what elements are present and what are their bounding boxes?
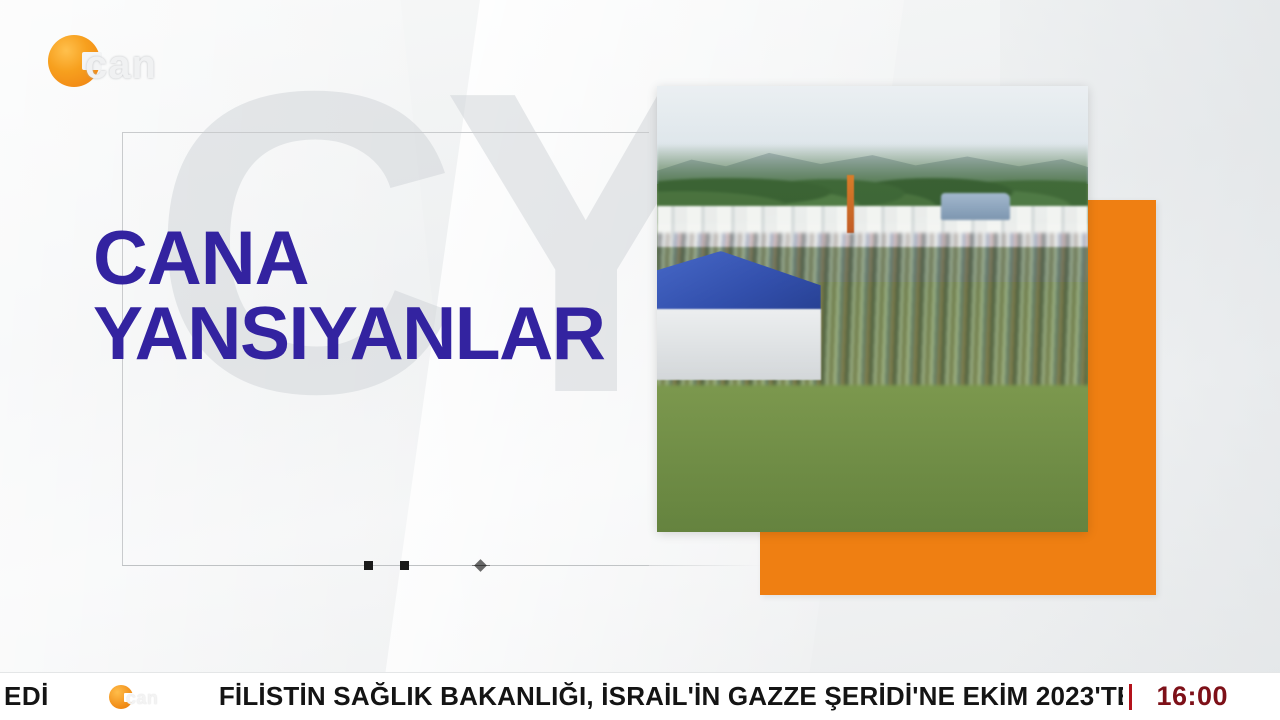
program-title-line-1: CANA [93, 222, 673, 296]
channel-logo: can [48, 33, 198, 91]
broadcast-stage: CY can CANA YANSIYANLAR EDİ can [0, 0, 1280, 720]
timeline-baseline [122, 565, 762, 566]
news-ticker-bar: EDİ can FİLİSTİN SAĞLIK BAKANLIĞI, İSRAİ… [0, 672, 1280, 720]
ticker-clock: 16:00 [1156, 681, 1280, 712]
ticker-channel-logo-text: can [126, 688, 159, 709]
ticker-left-group: EDİ can [0, 673, 193, 720]
timeline-marker-square-1 [364, 561, 373, 570]
program-title-line-2: YANSIYANLAR [93, 296, 673, 370]
ticker-previous-headline-fragment: EDİ [0, 681, 49, 712]
festival-crowd-photo [657, 86, 1088, 532]
ticker-headline-text: FİLİSTİN SAĞLIK BAKANLIĞI, İSRAİL'İN GAZ… [193, 681, 1124, 712]
timeline-marker-square-2 [400, 561, 409, 570]
ticker-channel-logo: can [101, 673, 193, 720]
photo-haze-overlay [657, 86, 1088, 532]
channel-logo-text: can [85, 43, 157, 88]
program-title: CANA YANSIYANLAR [93, 222, 673, 370]
ticker-separator [1129, 684, 1132, 710]
